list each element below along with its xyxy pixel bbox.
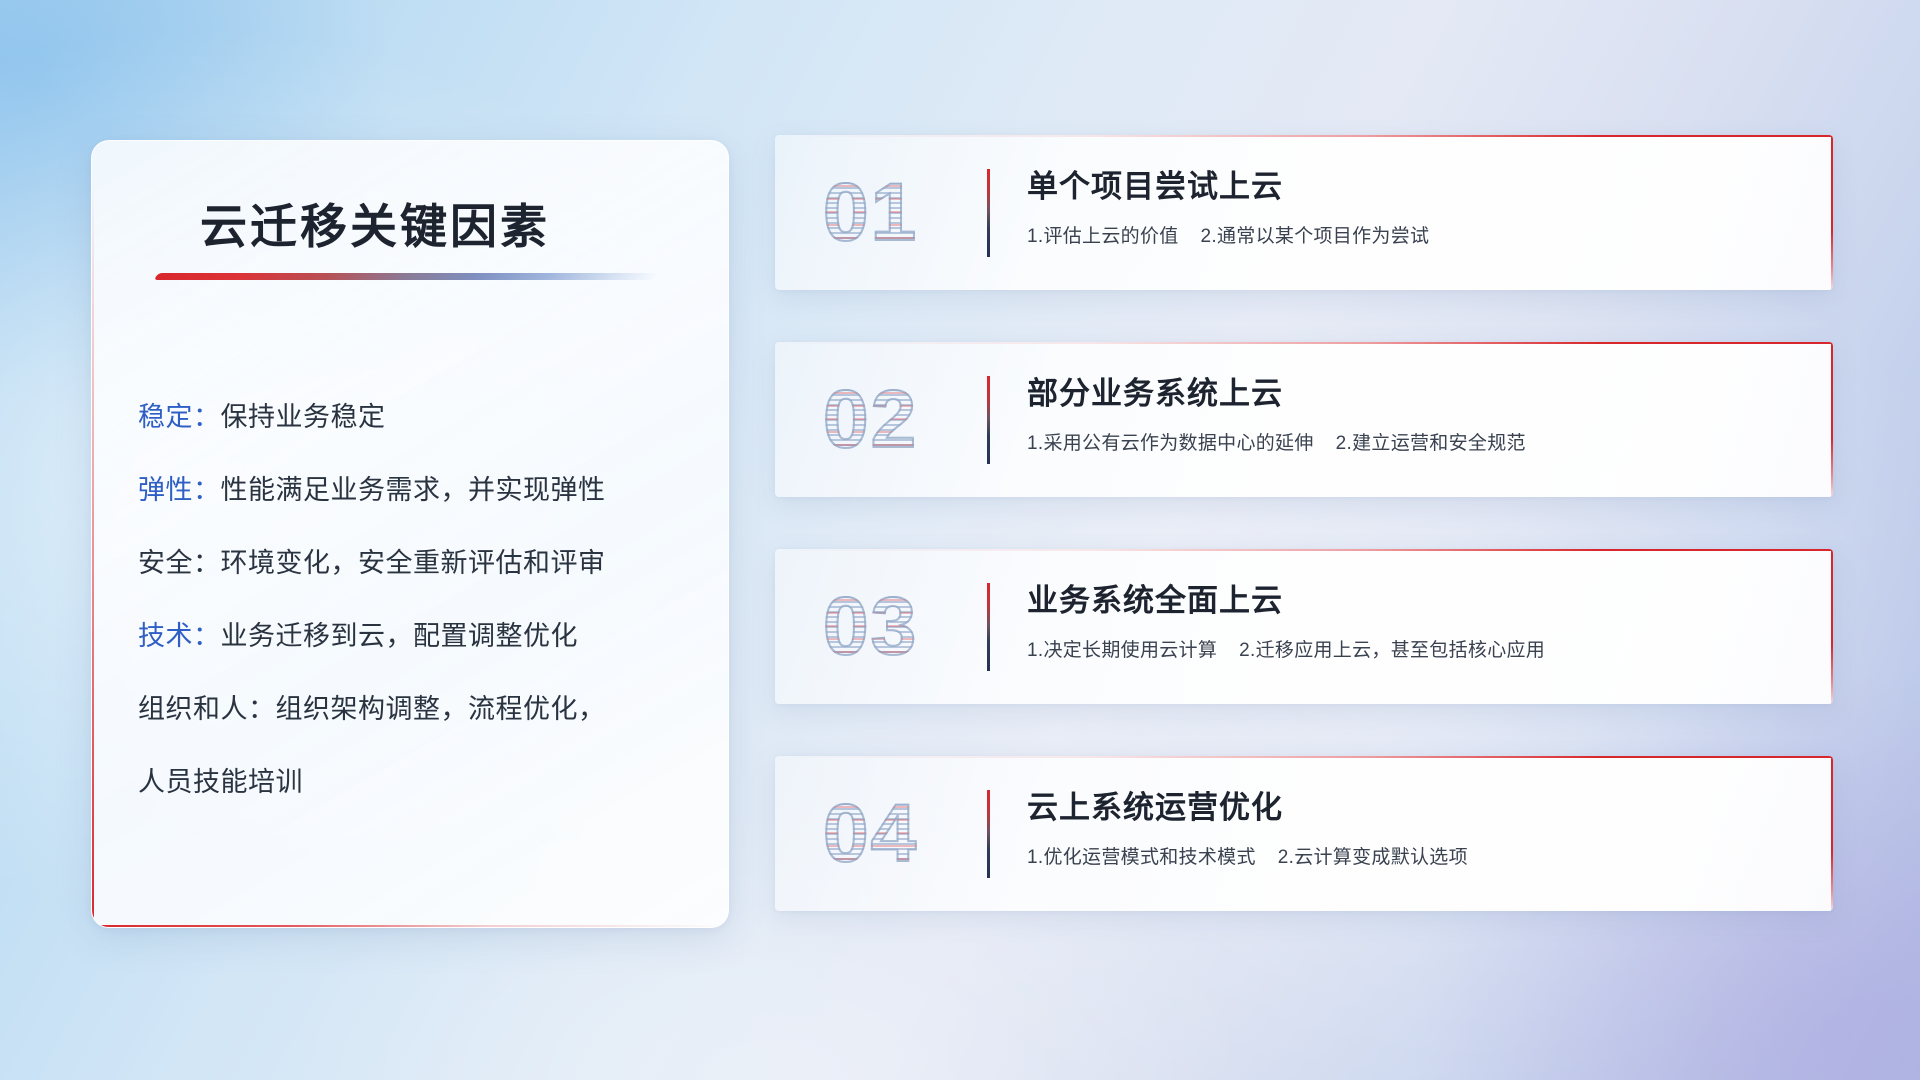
step-desc-item: 2.迁移应用上云，甚至包括核心应用	[1239, 640, 1545, 661]
step-desc-item: 1.评估上云的价值	[1027, 226, 1179, 247]
step-description: 1.采用公有云作为数据中心的延伸2.建立运营和安全规范	[1027, 430, 1793, 458]
factor-value: 保持业务稳定	[221, 402, 386, 432]
factor-label: 技术：	[138, 621, 221, 651]
step-heading: 云上系统运营优化	[1027, 786, 1793, 830]
factor-label: 组织和人：	[138, 694, 276, 724]
key-factors-panel: 云迁移关键因素 稳定：保持业务稳定 弹性：性能满足业务需求，并实现弹性 安全：环…	[91, 140, 729, 928]
factor-value: 环境变化，安全重新评估和评审	[221, 548, 606, 578]
slide-stage: 云迁移关键因素 稳定：保持业务稳定 弹性：性能满足业务需求，并实现弹性 安全：环…	[0, 0, 1920, 1080]
title-underline-accent	[154, 273, 659, 280]
step-desc-item: 1.优化运营模式和技术模式	[1027, 847, 1256, 868]
factor-row-continuation: 人员技能培训	[138, 746, 694, 819]
step-card[interactable]: 01 01 单个项目尝试上云 1.评估上云的价值2.通常以某个项目作为尝试	[775, 135, 1833, 290]
factor-label: 稳定：	[138, 402, 221, 432]
step-number: 01 01	[823, 172, 973, 254]
panel-title: 云迁移关键因素	[200, 188, 550, 257]
factor-row: 组织和人：组织架构调整，流程优化，	[138, 673, 694, 746]
factor-value: 性能满足业务需求，并实现弹性	[221, 475, 606, 505]
step-number: 02 02	[823, 379, 973, 461]
step-heading: 单个项目尝试上云	[1027, 165, 1793, 209]
step-divider	[987, 169, 990, 257]
step-card[interactable]: 03 03 业务系统全面上云 1.决定长期使用云计算2.迁移应用上云，甚至包括核…	[775, 549, 1833, 704]
step-text: 云上系统运营优化 1.优化运营模式和技术模式2.云计算变成默认选项	[1027, 786, 1793, 872]
factor-row: 弹性：性能满足业务需求，并实现弹性	[138, 454, 694, 527]
factor-label: 安全：	[138, 548, 221, 578]
factor-value: 业务迁移到云，配置调整优化	[221, 621, 579, 651]
step-divider	[987, 583, 990, 671]
migration-steps-list: 01 01 单个项目尝试上云 1.评估上云的价值2.通常以某个项目作为尝试 02…	[775, 135, 1833, 963]
step-heading: 业务系统全面上云	[1027, 579, 1793, 623]
factor-label: 弹性：	[138, 475, 221, 505]
step-desc-item: 2.云计算变成默认选项	[1278, 847, 1468, 868]
factor-row: 稳定：保持业务稳定	[138, 381, 694, 454]
step-text: 单个项目尝试上云 1.评估上云的价值2.通常以某个项目作为尝试	[1027, 165, 1793, 251]
step-card[interactable]: 02 02 部分业务系统上云 1.采用公有云作为数据中心的延伸2.建立运营和安全…	[775, 342, 1833, 497]
step-description: 1.优化运营模式和技术模式2.云计算变成默认选项	[1027, 844, 1793, 872]
factor-row: 技术：业务迁移到云，配置调整优化	[138, 600, 694, 673]
step-description: 1.决定长期使用云计算2.迁移应用上云，甚至包括核心应用	[1027, 637, 1793, 665]
step-desc-item: 1.采用公有云作为数据中心的延伸	[1027, 433, 1314, 454]
step-desc-item: 2.通常以某个项目作为尝试	[1201, 226, 1430, 247]
key-factors-list: 稳定：保持业务稳定 弹性：性能满足业务需求，并实现弹性 安全：环境变化，安全重新…	[138, 381, 694, 819]
step-card[interactable]: 04 04 云上系统运营优化 1.优化运营模式和技术模式2.云计算变成默认选项	[775, 756, 1833, 911]
step-divider	[987, 376, 990, 464]
step-divider	[987, 790, 990, 878]
step-number: 04 04	[823, 793, 973, 875]
step-heading: 部分业务系统上云	[1027, 372, 1793, 416]
step-desc-item: 2.建立运营和安全规范	[1336, 433, 1526, 454]
step-desc-item: 1.决定长期使用云计算	[1027, 640, 1217, 661]
factor-value: 组织架构调整，流程优化，	[276, 694, 606, 724]
step-text: 业务系统全面上云 1.决定长期使用云计算2.迁移应用上云，甚至包括核心应用	[1027, 579, 1793, 665]
factor-row: 安全：环境变化，安全重新评估和评审	[138, 527, 694, 600]
step-number: 03 03	[823, 586, 973, 668]
step-description: 1.评估上云的价值2.通常以某个项目作为尝试	[1027, 223, 1793, 251]
step-text: 部分业务系统上云 1.采用公有云作为数据中心的延伸2.建立运营和安全规范	[1027, 372, 1793, 458]
